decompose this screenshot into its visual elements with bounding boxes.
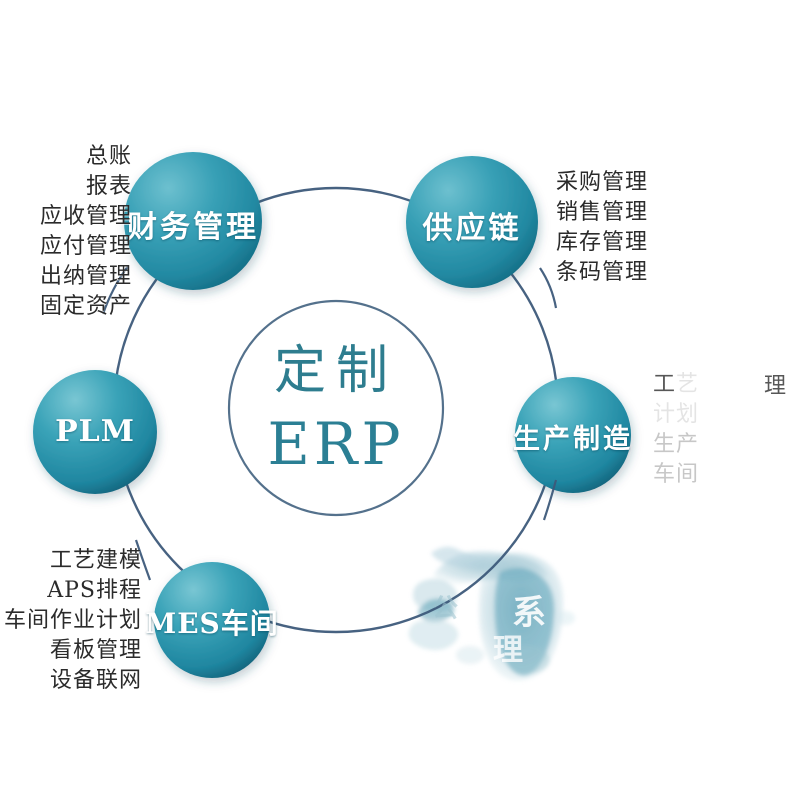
node-sphere-finance[interactable] xyxy=(124,152,262,290)
list-item: APS排程 xyxy=(0,576,142,606)
center-title-en: ERP xyxy=(236,410,436,478)
list-item: 销售管理 xyxy=(556,198,716,228)
list-item: 总账 xyxy=(0,142,132,172)
faded-text: 艺 xyxy=(676,372,699,397)
list-item: 设备联网 xyxy=(0,666,142,696)
node-sphere-plm[interactable] xyxy=(33,370,157,494)
satellite-list-production-faded: 工艺 计划 生产 车间 xyxy=(653,370,699,490)
faded-text: 车间 xyxy=(653,462,699,487)
faded-text: 计划 xyxy=(653,402,699,427)
list-item: 采购管理 xyxy=(556,168,716,198)
list-item: 看板管理 xyxy=(0,636,142,666)
satellite-list-mes: 工艺建模 APS排程 车间作业计划 看板管理 设备联网 xyxy=(0,546,142,696)
list-item: 工艺建模 xyxy=(0,546,142,576)
list-item: 报表 xyxy=(0,172,132,202)
faded-text: 工 xyxy=(653,372,676,397)
list-item: 固定资产 xyxy=(0,292,132,322)
satellite-list-supply-chain: 采购管理 销售管理 库存管理 条码管理 xyxy=(556,168,716,288)
node-sphere-production[interactable] xyxy=(515,377,631,493)
production-faded-right: 理 xyxy=(764,372,787,402)
list-item: 车间作业计划 xyxy=(0,606,142,636)
satellite-list-finance: 总账 报表 应收管理 应付管理 出纳管理 固定资产 xyxy=(0,142,132,322)
list-item: 条码管理 xyxy=(556,258,716,288)
erp-diagram: 定制 ERP 财务管理 供应链 PLM 生产制造 MES车间 总账 报表 应收管… xyxy=(0,0,800,800)
node-sphere-mes[interactable] xyxy=(154,562,270,678)
faded-text: 理 xyxy=(764,374,787,399)
list-item: 出纳管理 xyxy=(0,262,132,292)
node-sphere-supply-chain[interactable] xyxy=(406,156,538,288)
center-title-cn: 定制 xyxy=(236,328,436,403)
list-item: 应收管理 xyxy=(0,202,132,232)
faded-text: 生产 xyxy=(653,432,699,457)
list-item: 库存管理 xyxy=(556,228,716,258)
list-item: 应付管理 xyxy=(0,232,132,262)
